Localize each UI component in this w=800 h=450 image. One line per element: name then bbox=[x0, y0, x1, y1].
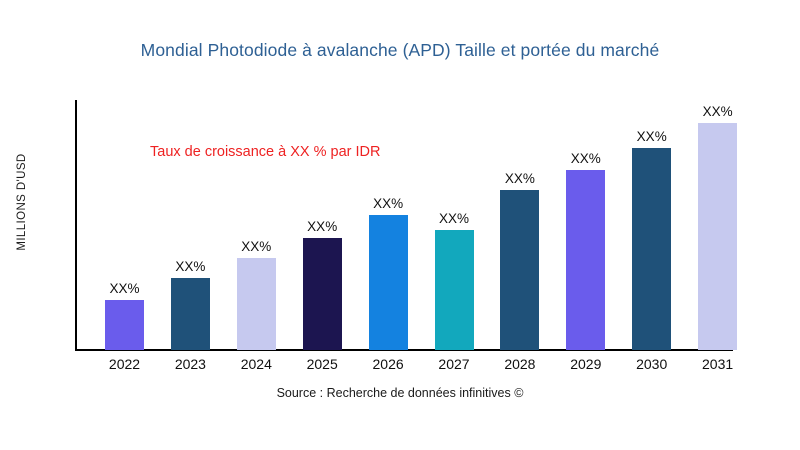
chart-figure: Mondial Photodiode à avalanche (APD) Tai… bbox=[0, 0, 800, 450]
bar bbox=[303, 238, 342, 351]
bar-value-label: XX% bbox=[307, 219, 337, 234]
source-note: Source : Recherche de données infinitive… bbox=[0, 386, 800, 400]
bar bbox=[566, 170, 605, 350]
bar-value-label: XX% bbox=[703, 104, 733, 119]
bar-group: XX% bbox=[105, 300, 144, 350]
x-axis-tick-2024: 2024 bbox=[221, 356, 291, 372]
x-axis-tick-2030: 2030 bbox=[617, 356, 687, 372]
x-axis-tick-2026: 2026 bbox=[353, 356, 423, 372]
x-axis-tick-2029: 2029 bbox=[551, 356, 621, 372]
bar bbox=[369, 215, 408, 350]
bar bbox=[435, 230, 474, 350]
bar bbox=[105, 300, 144, 350]
growth-rate-annotation: Taux de croissance à XX % par IDR bbox=[150, 144, 381, 160]
bar-group: XX% bbox=[435, 230, 474, 350]
bar bbox=[237, 258, 276, 351]
bar-group: XX% bbox=[698, 123, 737, 351]
bar-group: XX% bbox=[369, 215, 408, 350]
bar-value-label: XX% bbox=[241, 239, 271, 254]
bar-value-label: XX% bbox=[439, 211, 469, 226]
bar-value-label: XX% bbox=[637, 129, 667, 144]
page-title: Mondial Photodiode à avalanche (APD) Tai… bbox=[0, 40, 800, 61]
x-axis-tick-2027: 2027 bbox=[419, 356, 489, 372]
x-axis-tick-2022: 2022 bbox=[90, 356, 160, 372]
bar-value-label: XX% bbox=[373, 196, 403, 211]
bar bbox=[171, 278, 210, 351]
bar bbox=[500, 190, 539, 350]
bar-group: XX% bbox=[632, 148, 671, 351]
bar-group: XX% bbox=[237, 258, 276, 351]
bar-value-label: XX% bbox=[505, 171, 535, 186]
bar-group: XX% bbox=[500, 190, 539, 350]
bar-group: XX% bbox=[303, 238, 342, 351]
x-axis-tick-2025: 2025 bbox=[287, 356, 357, 372]
bar-value-label: XX% bbox=[175, 259, 205, 274]
y-axis-label: MILLIONS D'USD bbox=[16, 122, 28, 282]
bar-group: XX% bbox=[171, 278, 210, 351]
bar-value-label: XX% bbox=[571, 151, 601, 166]
y-axis-line bbox=[75, 100, 77, 351]
x-axis-tick-2028: 2028 bbox=[485, 356, 555, 372]
bar bbox=[632, 148, 671, 351]
bar bbox=[698, 123, 737, 351]
bar-group: XX% bbox=[566, 170, 605, 350]
x-axis-tick-2031: 2031 bbox=[683, 356, 753, 372]
bar-value-label: XX% bbox=[109, 281, 139, 296]
x-axis-tick-2023: 2023 bbox=[155, 356, 225, 372]
